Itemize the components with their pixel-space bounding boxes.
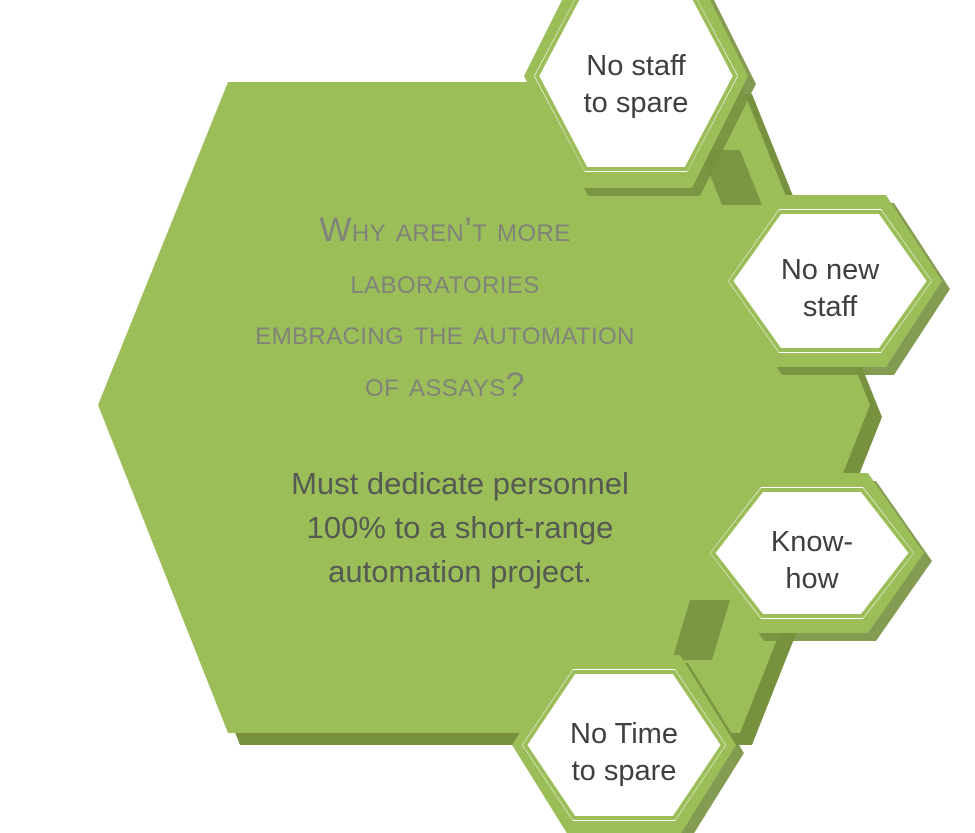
hexagon-diagram-graphic (0, 0, 975, 833)
diagram-canvas: Why aren’t more laboratories embracing t… (0, 0, 975, 833)
title-line-1: Why aren’t more (150, 205, 740, 257)
title-line-2: laboratories (150, 257, 740, 309)
title-line-3: embracing the automation (150, 308, 740, 360)
title-line-4: of assays? (150, 360, 740, 412)
main-hexagon-body: Must dedicate personnel 100% to a short-… (168, 462, 752, 594)
body-line-1: Must dedicate personnel (168, 462, 752, 506)
body-line-3: automation project. (168, 550, 752, 594)
body-line-2: 100% to a short-range (168, 506, 752, 550)
main-hexagon-title: Why aren’t more laboratories embracing t… (150, 205, 740, 412)
